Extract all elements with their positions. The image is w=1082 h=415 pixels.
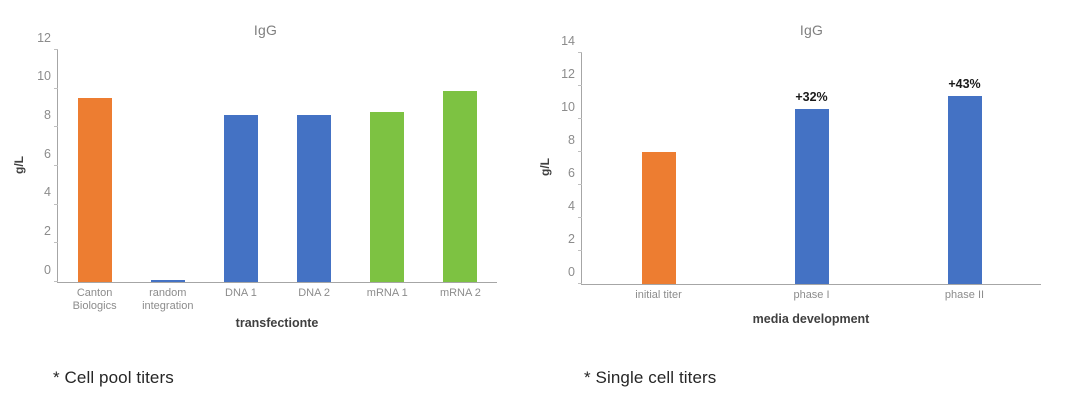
bar[interactable] xyxy=(224,115,258,282)
y-axis-tick-mark xyxy=(578,184,582,185)
chart-panel-single-cell: IgG g/L +32%+43% initial titerphase Ipha… xyxy=(541,0,1082,415)
x-axis-tick-label: mRNA 1 xyxy=(351,287,424,313)
y-axis-tick-mark xyxy=(578,217,582,218)
bar-slot xyxy=(131,50,204,282)
y-axis-tick-mark xyxy=(54,204,58,205)
y-axis-tick-mark xyxy=(578,118,582,119)
bar-slot xyxy=(278,50,351,282)
y-axis-tick-label: 12 xyxy=(561,67,575,80)
y-axis-tick-label: 0 xyxy=(44,263,51,276)
y-axis-tick-mark xyxy=(54,49,58,50)
bar-group xyxy=(58,50,497,282)
y-axis-tick-label: 14 xyxy=(561,34,575,47)
y-axis-tick-label: 6 xyxy=(44,147,51,160)
bar[interactable] xyxy=(795,109,829,284)
x-axis-tick-label: Canton Biologics xyxy=(58,287,131,313)
x-axis-tick-label: mRNA 2 xyxy=(424,287,497,313)
bar[interactable] xyxy=(370,112,404,282)
x-axis-tick-label: DNA 2 xyxy=(278,287,351,313)
bar[interactable] xyxy=(948,96,982,284)
x-axis-tick-label: initial titer xyxy=(582,289,735,302)
bar[interactable] xyxy=(297,115,331,282)
x-axis-tick-label: phase I xyxy=(735,289,888,302)
y-axis-tick-mark xyxy=(54,88,58,89)
bar[interactable] xyxy=(642,152,676,284)
y-axis-tick-mark xyxy=(578,283,582,284)
y-axis-tick-mark xyxy=(54,126,58,127)
bar-value-annotation: +32% xyxy=(735,90,888,104)
bar[interactable] xyxy=(78,98,112,282)
y-axis-tick-label: 2 xyxy=(44,225,51,238)
y-axis-tick-label: 8 xyxy=(44,109,51,122)
bar-group: +32%+43% xyxy=(582,53,1041,284)
bar-value-annotation: +43% xyxy=(888,77,1041,91)
y-axis-tick-mark xyxy=(54,281,58,282)
y-axis-tick-label: 10 xyxy=(561,100,575,113)
y-axis-tick-label: 4 xyxy=(568,199,575,212)
y-axis-tick-label: 8 xyxy=(568,133,575,146)
bar-slot xyxy=(58,50,131,282)
chart-title: IgG xyxy=(0,22,541,38)
bar-slot xyxy=(582,53,735,284)
y-axis-tick-mark xyxy=(578,85,582,86)
x-axis-label: transfectionte xyxy=(57,316,497,330)
x-axis-tick-label: DNA 1 xyxy=(204,287,277,313)
x-axis-tick-labels: Canton Biologicsrandom integrationDNA 1D… xyxy=(58,282,497,313)
y-axis-label: g/L xyxy=(12,145,26,185)
bar-slot xyxy=(424,50,497,282)
x-axis-tick-label: phase II xyxy=(888,289,1041,302)
x-axis-tick-labels: initial titerphase Iphase II xyxy=(582,284,1041,302)
y-axis-tick-label: 4 xyxy=(44,186,51,199)
y-axis-tick-mark xyxy=(578,52,582,53)
y-axis-tick-label: 6 xyxy=(568,166,575,179)
y-axis-tick-label: 0 xyxy=(568,265,575,278)
x-axis-label: media development xyxy=(581,312,1041,326)
chart-panel-cell-pool: IgG g/L Canton Biologicsrandom integrati… xyxy=(0,0,541,415)
chart-title: IgG xyxy=(541,22,1082,38)
y-axis-tick-label: 10 xyxy=(37,70,51,83)
plot-area: Canton Biologicsrandom integrationDNA 1D… xyxy=(57,50,497,283)
chart-caption: * Single cell titers xyxy=(584,368,716,388)
bar-slot xyxy=(351,50,424,282)
slide-canvas: IgG g/L Canton Biologicsrandom integrati… xyxy=(0,0,1082,415)
bar-slot xyxy=(204,50,277,282)
y-axis-tick-mark xyxy=(578,151,582,152)
bar[interactable] xyxy=(443,91,477,282)
y-axis-tick-mark xyxy=(54,165,58,166)
x-axis-tick-label: random integration xyxy=(131,287,204,313)
y-axis-label: g/L xyxy=(538,147,552,187)
y-axis-tick-mark xyxy=(54,242,58,243)
chart-caption: * Cell pool titers xyxy=(53,368,174,388)
y-axis-tick-label: 2 xyxy=(568,232,575,245)
plot-area: +32%+43% initial titerphase Iphase II 14… xyxy=(581,53,1041,285)
y-axis-tick-mark xyxy=(578,250,582,251)
bar-slot: +43% xyxy=(888,53,1041,284)
bar-slot: +32% xyxy=(735,53,888,284)
y-axis-tick-label: 12 xyxy=(37,31,51,44)
